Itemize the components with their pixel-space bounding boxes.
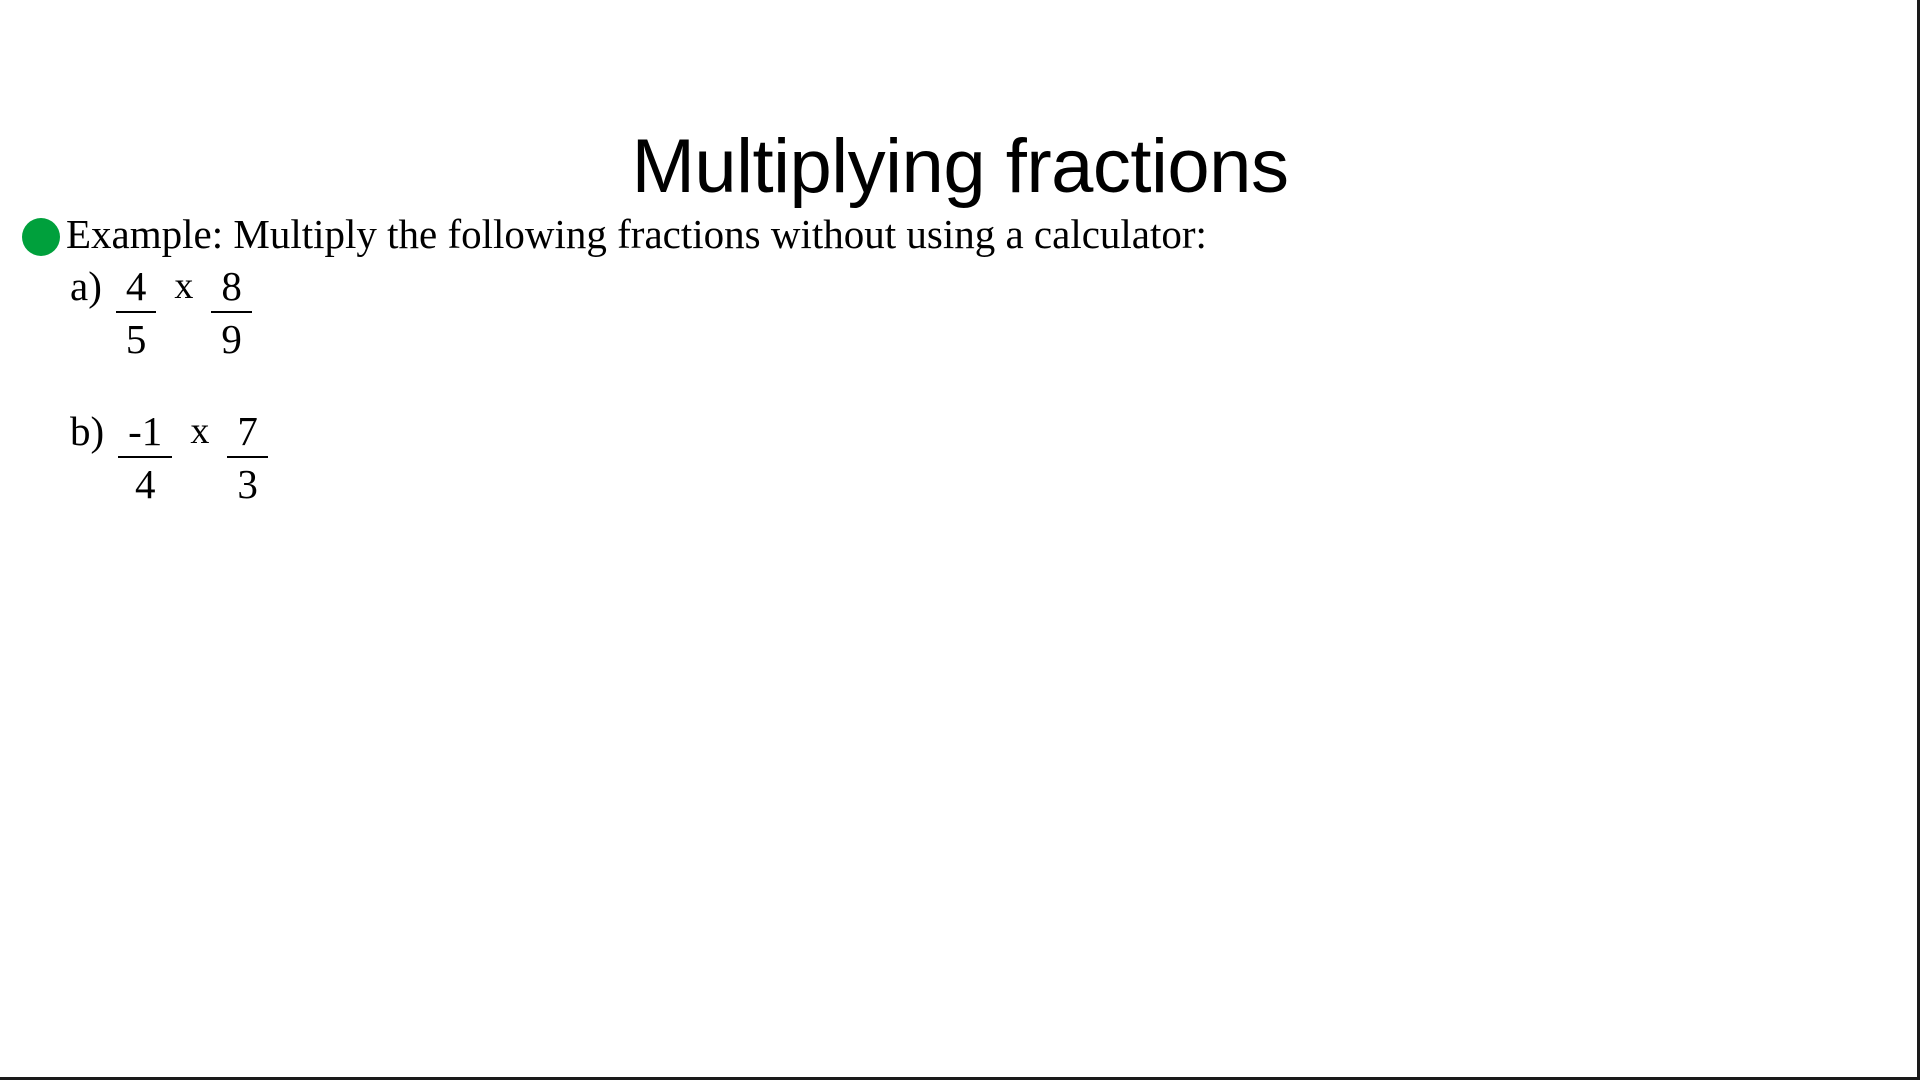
problem-a-right-denominator: 9 [215,313,249,363]
problem-a-left-numerator: 4 [116,262,157,313]
problem-a-left-denominator: 5 [119,313,153,363]
problem-a-fraction-left: 4 5 [116,262,157,363]
problem-a-right-numerator: 8 [211,262,252,313]
green-circle-bullet-icon [22,218,60,256]
problem-a-fraction-right: 8 9 [211,262,252,363]
slide-body: Example: Multiply the following fraction… [0,212,1400,256]
example-instruction-text: Example: Multiply the following fraction… [66,212,1207,256]
problem-a: a) 4 5 x 8 9 [70,262,256,363]
problem-b-fraction-left: -1 4 [118,407,172,508]
problem-b-right-numerator: 7 [227,407,268,458]
problem-b-right-denominator: 3 [231,458,265,508]
bullet-list-item: Example: Multiply the following fraction… [0,212,1400,256]
problem-b-operator: x [176,407,223,455]
problem-a-label: a) [70,262,112,310]
problem-b-label: b) [70,407,114,455]
slide-canvas: Multiplying fractions Example: Multiply … [0,0,1920,1080]
problem-b-fraction-right: 7 3 [227,407,268,508]
problem-b-left-numerator: -1 [118,407,172,458]
problem-b: b) -1 4 x 7 3 [70,407,272,508]
problem-b-left-denominator: 4 [128,458,162,508]
page-title: Multiplying fractions [0,129,1920,205]
problem-a-operator: x [160,262,207,310]
